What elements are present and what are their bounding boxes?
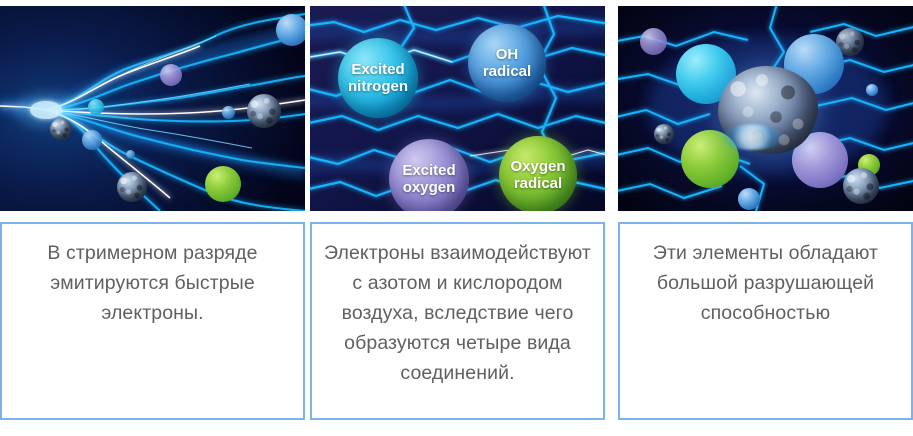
caption-box-3: Эти элементы обладают большой разрушающе… [618, 222, 913, 420]
bubble-label-excited-nitrogen: Excited nitrogen [348, 61, 408, 95]
caption-text-1: В стримерном разряде эмитируются быстрые… [19, 238, 287, 418]
decorative-orb-blue-tiny [866, 84, 878, 96]
discharge-glow [722, 124, 782, 150]
decorative-orb-blue-small [222, 106, 235, 119]
bubble-excited-nitrogen: Excited nitrogen [338, 38, 418, 118]
caption-box-1: В стримерном разряде эмитируются быстрые… [0, 222, 305, 420]
decorative-orb-blue-bottom [738, 188, 760, 210]
virus-destruction-illustration [618, 6, 913, 211]
bubble-label-oh-radical: OH radical [483, 46, 531, 80]
decorative-orb-purple [160, 64, 182, 86]
panel-reactive-species: Excited nitrogen OH radical Excited oxyg… [310, 0, 605, 436]
decorative-orb-grain-right [247, 94, 281, 128]
infographic-stage: В стримерном разряде эмитируются быстрые… [0, 0, 913, 436]
decorative-orb-blue-corner [276, 14, 305, 46]
decorative-orb-green [205, 166, 241, 202]
bubble-label-oxygen-radical: Oxygen radical [510, 158, 565, 192]
decorative-orb-purple-top [640, 28, 667, 55]
streamer-discharge-illustration [0, 6, 305, 211]
caption-text-2: Электроны взаимодействуют с азотом и кис… [323, 238, 593, 418]
reactive-species-illustration: Excited nitrogen OH radical Excited oxyg… [310, 6, 605, 211]
bubble-oxygen-radical: Oxygen radical [499, 136, 577, 211]
bubble-excited-oxygen: Excited oxygen [389, 139, 469, 211]
bubble-label-excited-oxygen: Excited oxygen [402, 162, 455, 196]
panel-streamer-discharge: В стримерном разряде эмитируются быстрые… [0, 0, 305, 436]
bubble-oh-radical: OH radical [468, 24, 546, 102]
decorative-orb-grain-bottom-right [843, 168, 879, 204]
decorative-orb-tiny [126, 150, 135, 159]
caption-text-3: Эти элементы обладают большой разрушающе… [630, 238, 902, 418]
decorative-orb-grain-bottom [117, 172, 147, 202]
panel-virus-destruction: Эти элементы обладают большой разрушающе… [618, 0, 913, 436]
caption-box-2: Электроны взаимодействуют с азотом и кис… [310, 222, 605, 420]
decorative-orb-blue [82, 130, 102, 150]
decorative-orb-grain-left [654, 124, 674, 144]
decorative-orb-cyan-small [88, 99, 104, 115]
decorative-orb-grain-mid [50, 118, 72, 140]
